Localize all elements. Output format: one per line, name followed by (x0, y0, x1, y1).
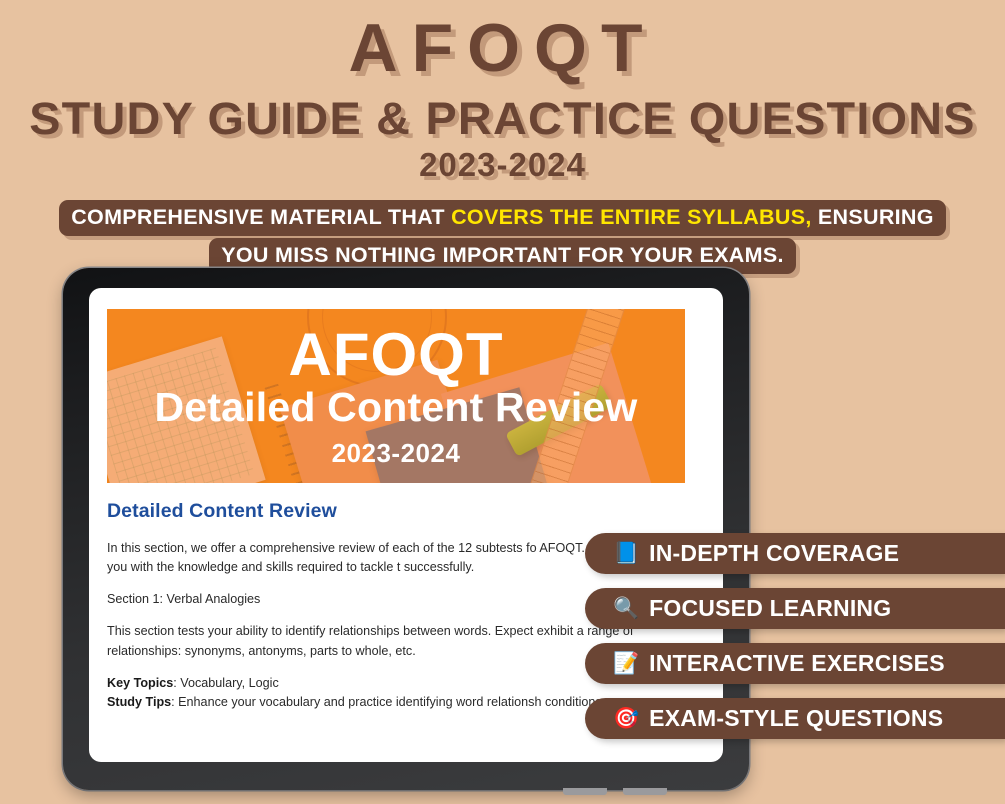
magnifying-glass-icon: 🔍 (613, 598, 639, 619)
subtitle-text-after: ENSURING (812, 205, 934, 229)
page-title: AFOQT (0, 14, 1005, 82)
feature-badge-exam-style-questions[interactable]: 🎯 EXAM-STYLE QUESTIONS (585, 698, 1005, 739)
feature-badge-interactive-exercises[interactable]: 📝 INTERACTIVE EXERCISES (585, 643, 1005, 684)
tablet-foot-right (623, 788, 667, 795)
page-years: 2023-2024 (0, 148, 1005, 181)
subtitle-banner: COMPREHENSIVE MATERIAL THAT COVERS THE E… (0, 200, 1005, 274)
study-tips-label: Study Tips (107, 695, 171, 709)
feature-badge-label: INTERACTIVE EXERCISES (649, 650, 945, 677)
blue-book-icon: 📘 (613, 543, 639, 564)
hero-title: AFOQT (107, 325, 685, 385)
hero-subtitle: Detailed Content Review (107, 387, 685, 428)
key-topics-value: : Vocabulary, Logic (173, 676, 278, 690)
page-subtitle: STUDY GUIDE & PRACTICE QUESTIONS (0, 96, 1005, 141)
hero-years: 2023-2024 (107, 440, 685, 466)
document-heading: Detailed Content Review (107, 500, 703, 523)
tablet-foot-left (563, 788, 607, 795)
subtitle-text-highlight: COVERS THE ENTIRE SYLLABUS, (451, 205, 812, 229)
study-tips-value: : Enhance your vocabulary and practice i… (171, 695, 605, 709)
feature-badge-focused-learning[interactable]: 🔍 FOCUSED LEARNING (585, 588, 1005, 629)
key-topics-label: Key Topics (107, 676, 173, 690)
ebook-hero-banner: AFOQT Detailed Content Review 2023-2024 (107, 309, 685, 483)
feature-badge-label: EXAM-STYLE QUESTIONS (649, 705, 943, 732)
dart-target-icon: 🎯 (613, 708, 639, 729)
feature-badge-list: 📘 IN-DEPTH COVERAGE 🔍 FOCUSED LEARNING 📝… (585, 533, 1005, 753)
feature-badge-in-depth-coverage[interactable]: 📘 IN-DEPTH COVERAGE (585, 533, 1005, 574)
feature-badge-label: IN-DEPTH COVERAGE (649, 540, 899, 567)
memo-pencil-icon: 📝 (613, 653, 639, 674)
hero-text-block: AFOQT Detailed Content Review 2023-2024 (107, 309, 685, 483)
poster-header: AFOQT STUDY GUIDE & PRACTICE QUESTIONS 2… (0, 0, 1005, 196)
feature-badge-label: FOCUSED LEARNING (649, 595, 891, 622)
subtitle-text-before: COMPREHENSIVE MATERIAL THAT (71, 205, 451, 229)
subtitle-banner-line-1: COMPREHENSIVE MATERIAL THAT COVERS THE E… (59, 200, 946, 236)
